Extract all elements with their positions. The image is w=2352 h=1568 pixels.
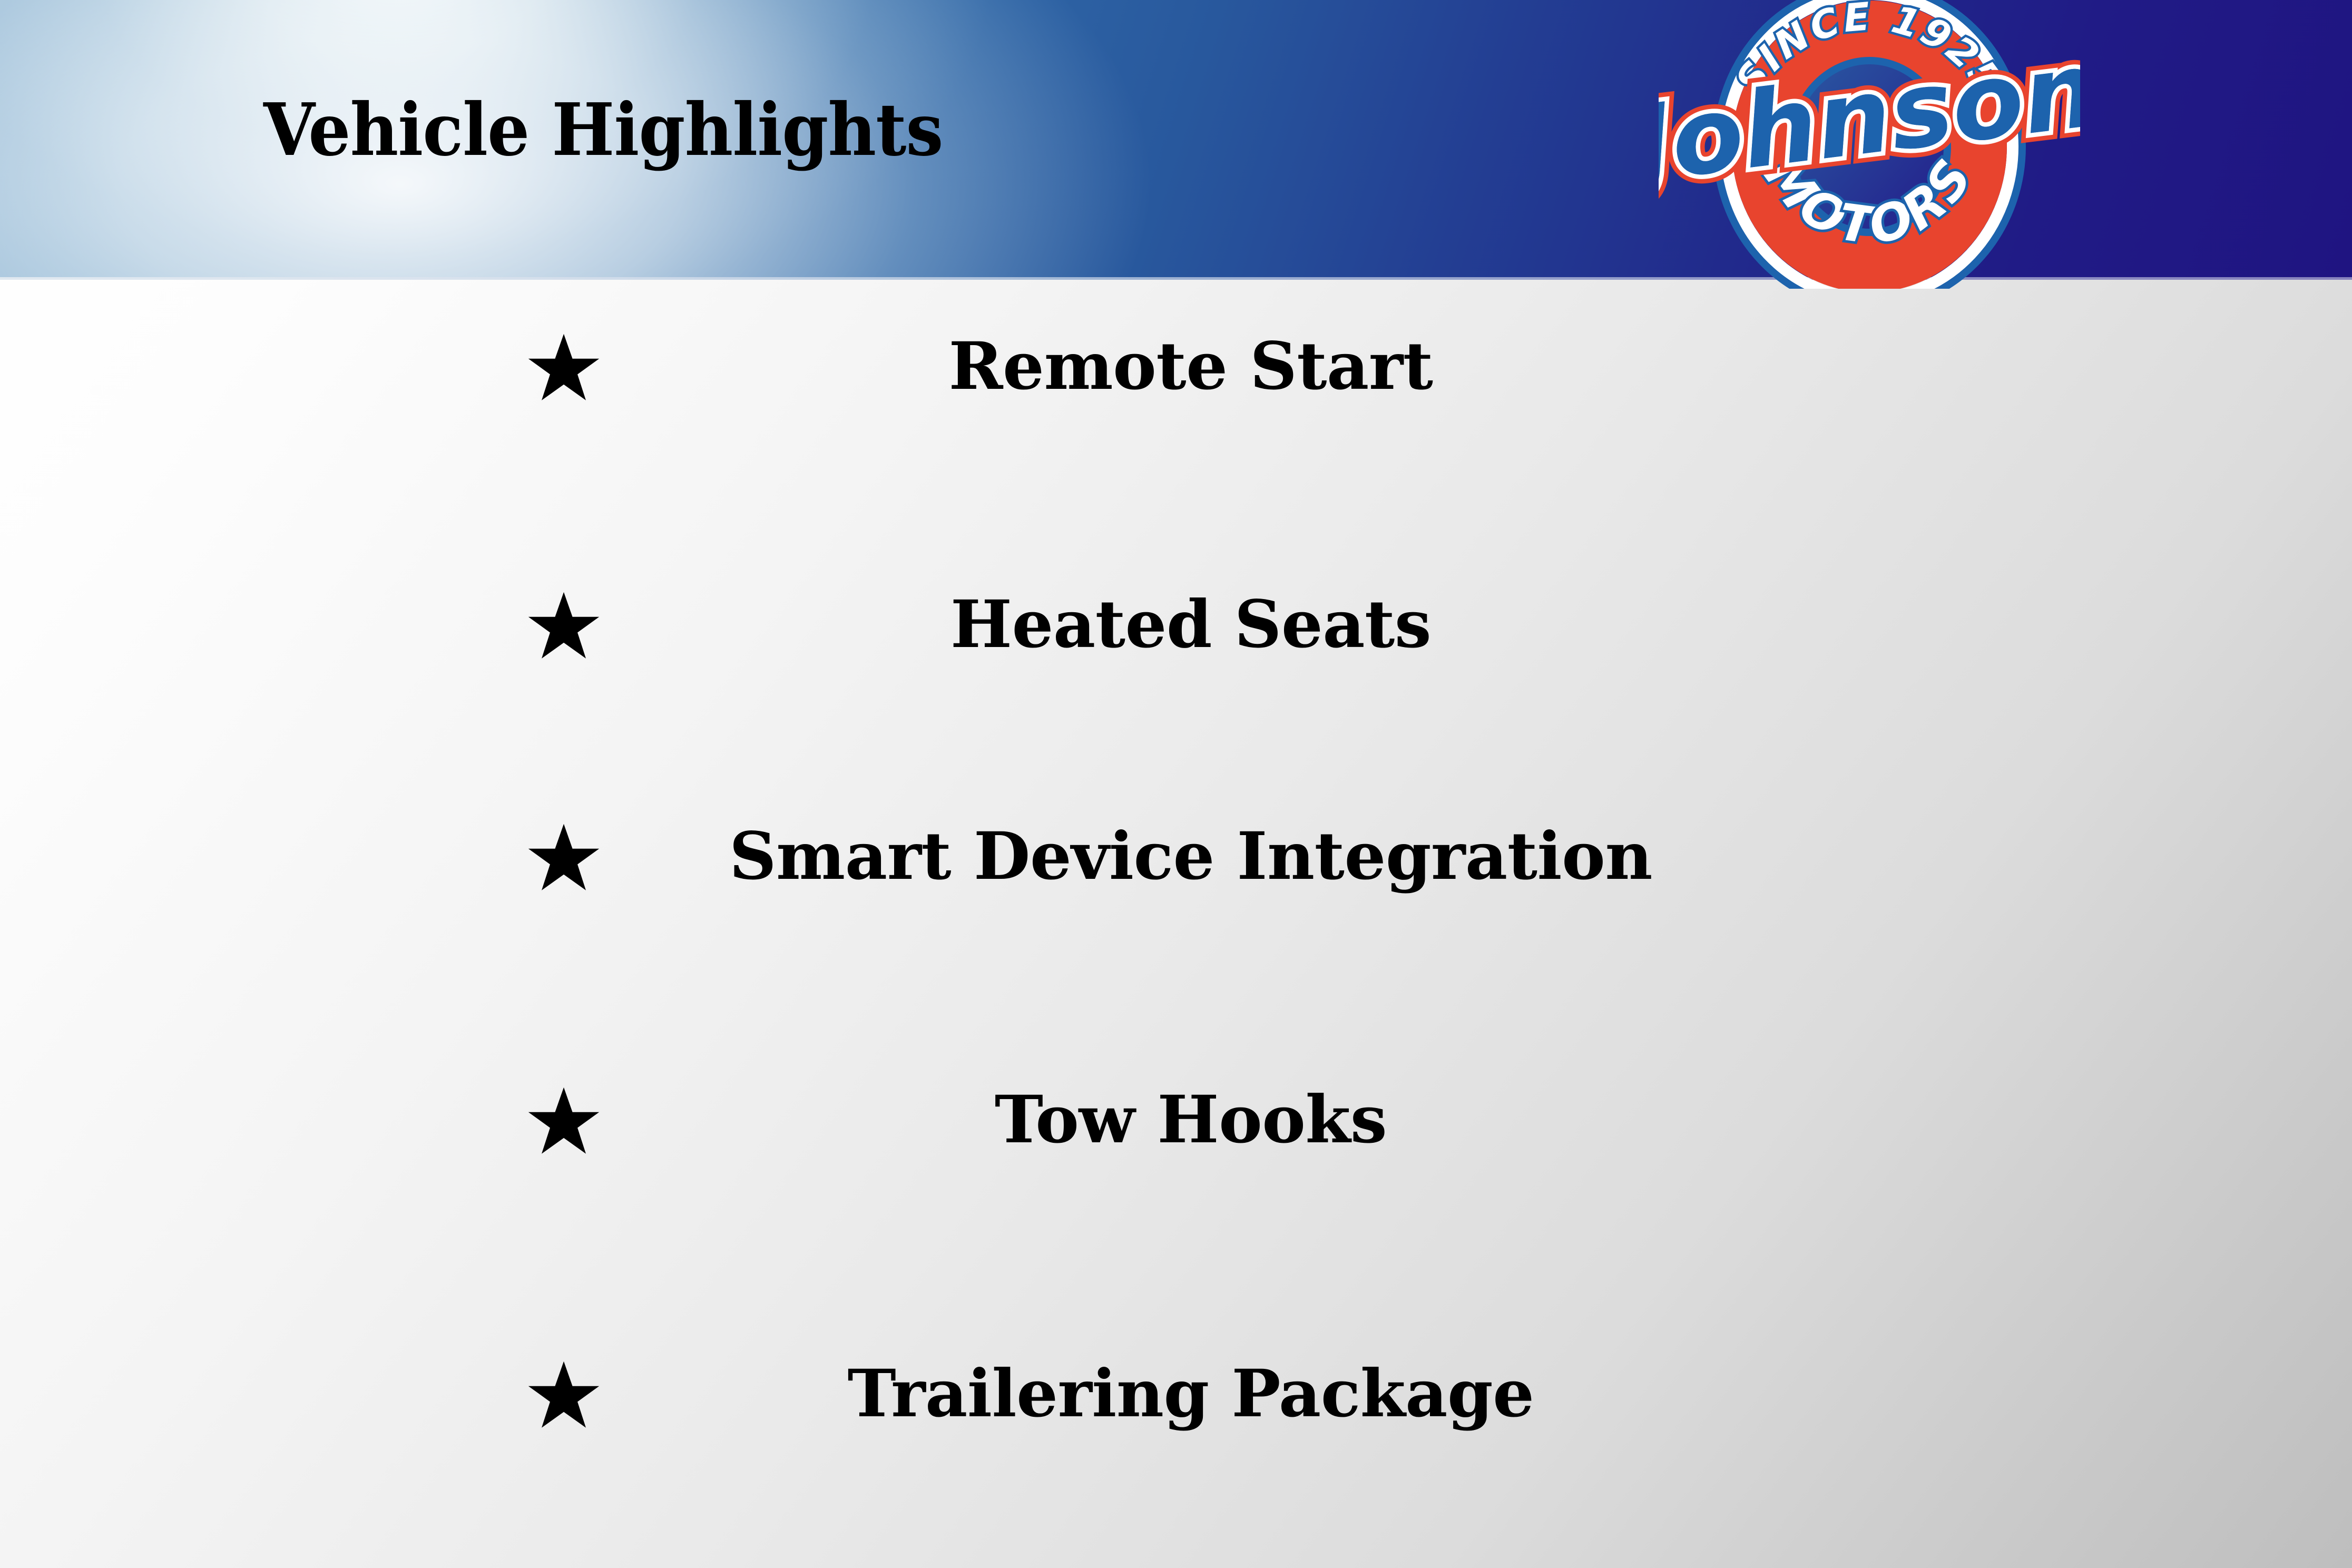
list-item-label: Remote Start [674, 327, 1707, 406]
johnson-motors-logo: SINCE 1925 MOTORS Johnson Johnson Johnso… [1659, 0, 2080, 289]
star-icon [527, 1086, 601, 1160]
star-icon [527, 822, 601, 896]
star-icon [527, 1360, 601, 1434]
list-item-label: Heated Seats [674, 585, 1707, 664]
list-item: Tow Hooks [0, 1086, 2352, 1165]
page-title: Vehicle Highlights [263, 94, 943, 166]
star-icon [527, 332, 601, 406]
list-item-label: Smart Device Integration [674, 817, 1707, 896]
slide: Vehicle Highlights SINCE [0, 0, 2352, 1568]
list-item: Smart Device Integration [0, 822, 2352, 901]
list-item-label: Tow Hooks [674, 1081, 1707, 1160]
list-item: Heated Seats [0, 591, 2352, 670]
star-icon [527, 591, 601, 664]
list-item: Trailering Package [0, 1360, 2352, 1439]
list-item-label: Trailering Package [674, 1355, 1707, 1434]
highlights-list: Remote Start Heated Seats Smart Device I… [0, 280, 2352, 1568]
list-item: Remote Start [0, 332, 2352, 411]
